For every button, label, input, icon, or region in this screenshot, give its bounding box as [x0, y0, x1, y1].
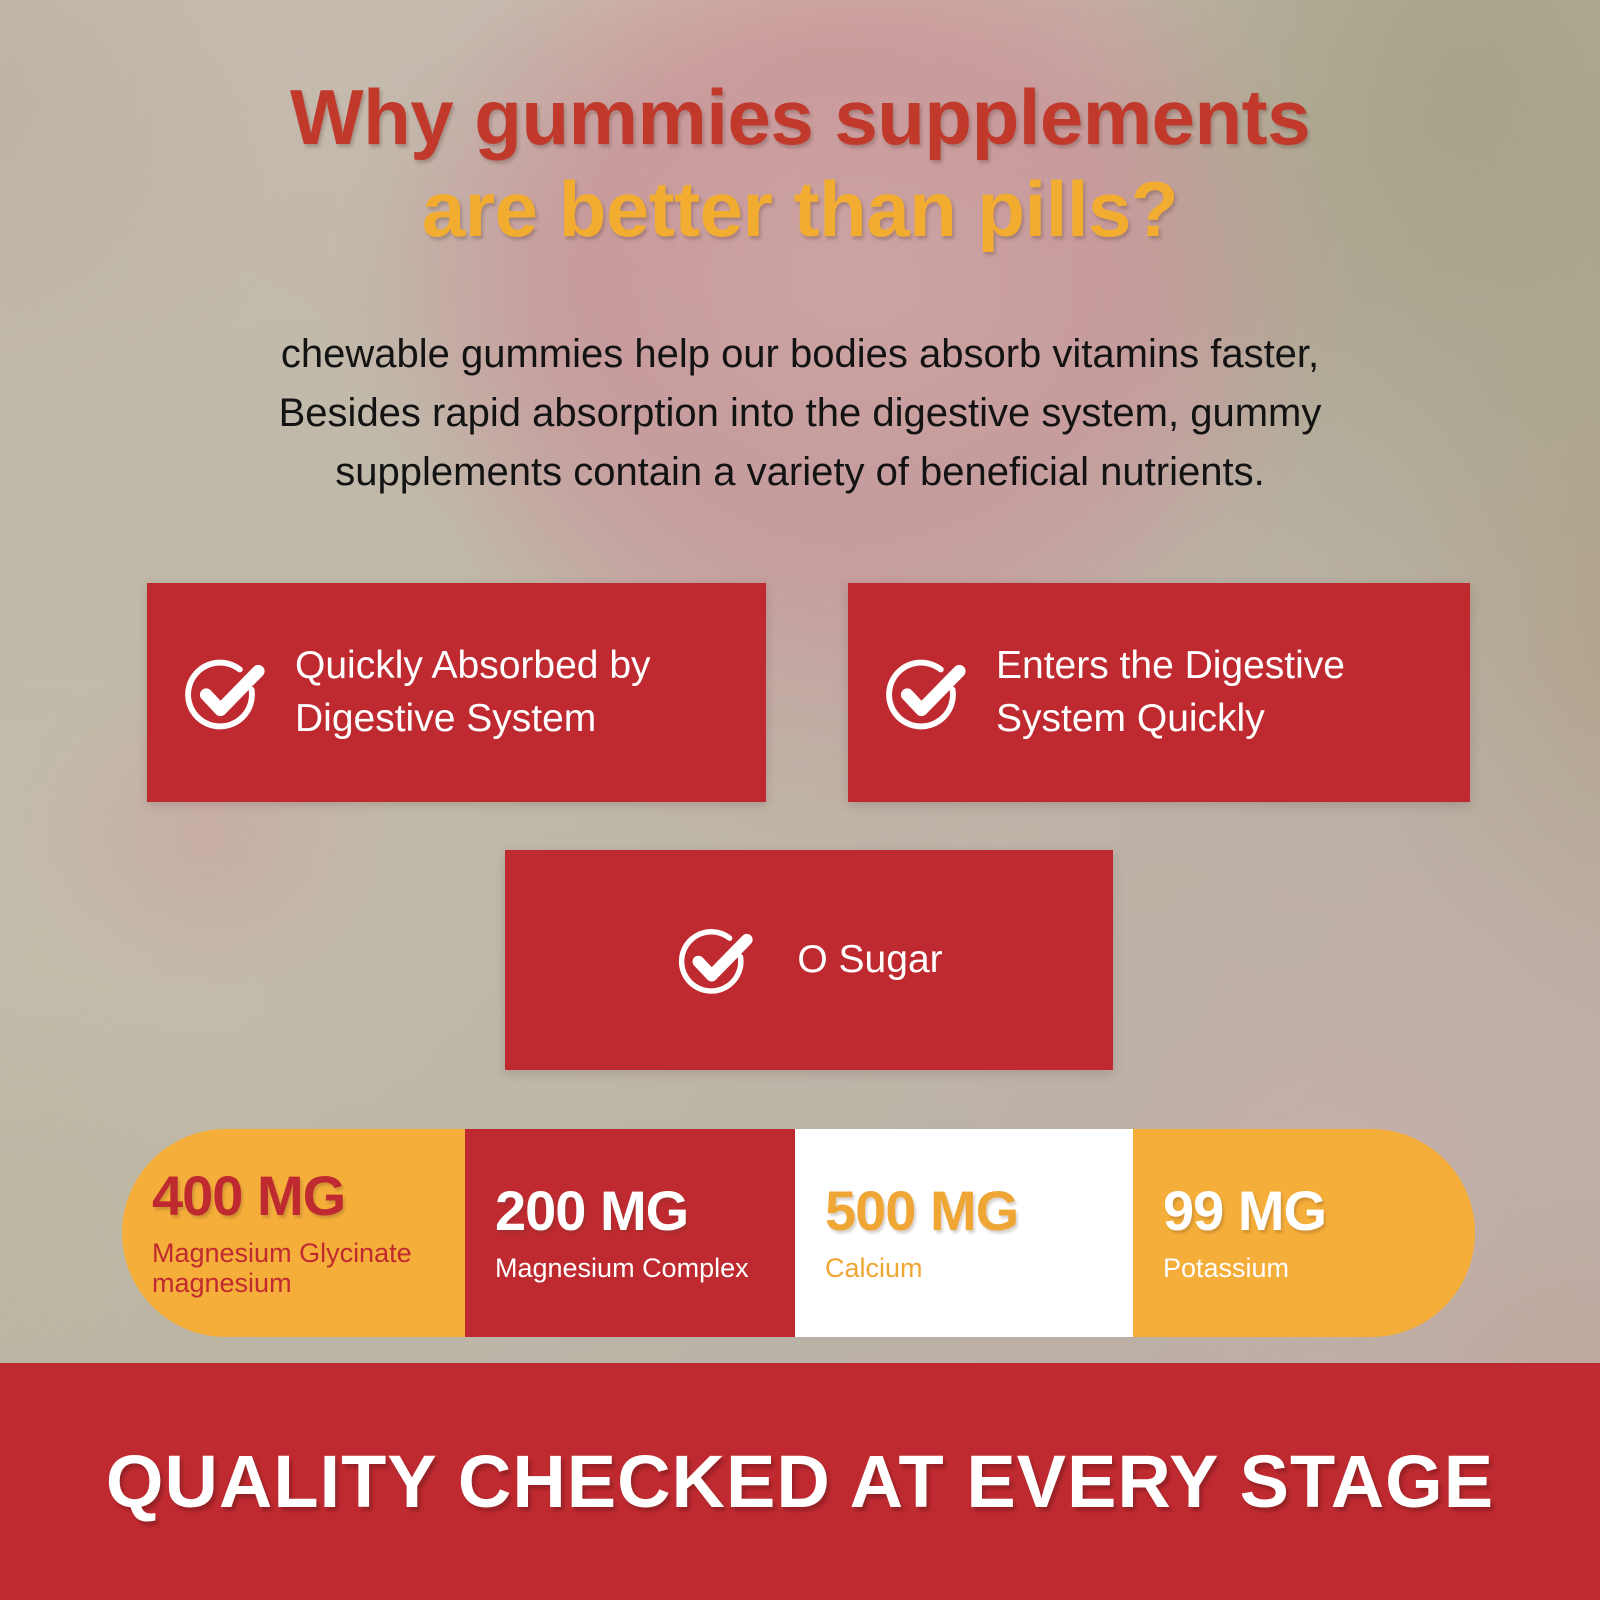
intro-line-1: chewable gummies help our bodies absorb … — [160, 325, 1440, 384]
dosage-nutrient-name: Potassium — [1163, 1253, 1475, 1283]
benefit-card-zero-sugar[interactable]: O Sugar — [505, 850, 1113, 1070]
intro-line-2: Besides rapid absorption into the digest… — [160, 384, 1440, 443]
benefit-card-enters-digestive-system[interactable]: Enters the Digestive System Quickly — [848, 583, 1470, 802]
dosage-nutrient-name: Magnesium Glycinate magnesium — [152, 1238, 465, 1298]
page-title: Why gummies supplements are better than … — [0, 78, 1600, 248]
quality-banner: QUALITY CHECKED AT EVERY STAGE — [0, 1363, 1600, 1600]
infographic-content: Why gummies supplements are better than … — [0, 0, 1600, 1600]
dosage-amount: 400 MG — [152, 1168, 465, 1224]
benefit-card-quickly-absorbed[interactable]: Quickly Absorbed by Digestive System — [147, 583, 766, 802]
benefit-card-label: Enters the Digestive System Quickly — [996, 640, 1436, 745]
benefit-card-label: Quickly Absorbed by Digestive System — [295, 640, 732, 745]
benefit-card-label: O Sugar — [797, 934, 942, 987]
dosage-nutrient-name: Magnesium Complex — [495, 1253, 795, 1283]
dosage-amount: 99 MG — [1163, 1183, 1475, 1239]
dosage-amount: 200 MG — [495, 1183, 795, 1239]
page-title-line-2: are better than pills? — [0, 170, 1600, 248]
dosage-segment-potassium[interactable]: 99 MG Potassium — [1133, 1129, 1475, 1337]
check-circle-icon — [181, 651, 265, 735]
dosage-nutrient-name: Calcium — [825, 1253, 1133, 1283]
dosage-segment-magnesium-glycinate[interactable]: 400 MG Magnesium Glycinate magnesium — [122, 1129, 465, 1337]
page-title-line-1: Why gummies supplements — [0, 78, 1600, 156]
dosage-segment-calcium[interactable]: 500 MG Calcium — [795, 1129, 1133, 1337]
intro-line-3: supplements contain a variety of benefic… — [160, 443, 1440, 502]
dosage-bar: 400 MG Magnesium Glycinate magnesium 200… — [122, 1129, 1475, 1337]
intro-paragraph: chewable gummies help our bodies absorb … — [160, 325, 1440, 503]
dosage-segment-magnesium-complex[interactable]: 200 MG Magnesium Complex — [465, 1129, 795, 1337]
quality-banner-text: QUALITY CHECKED AT EVERY STAGE — [106, 1439, 1494, 1524]
check-circle-icon — [675, 921, 753, 999]
check-circle-icon — [882, 651, 966, 735]
dosage-amount: 500 MG — [825, 1183, 1133, 1239]
